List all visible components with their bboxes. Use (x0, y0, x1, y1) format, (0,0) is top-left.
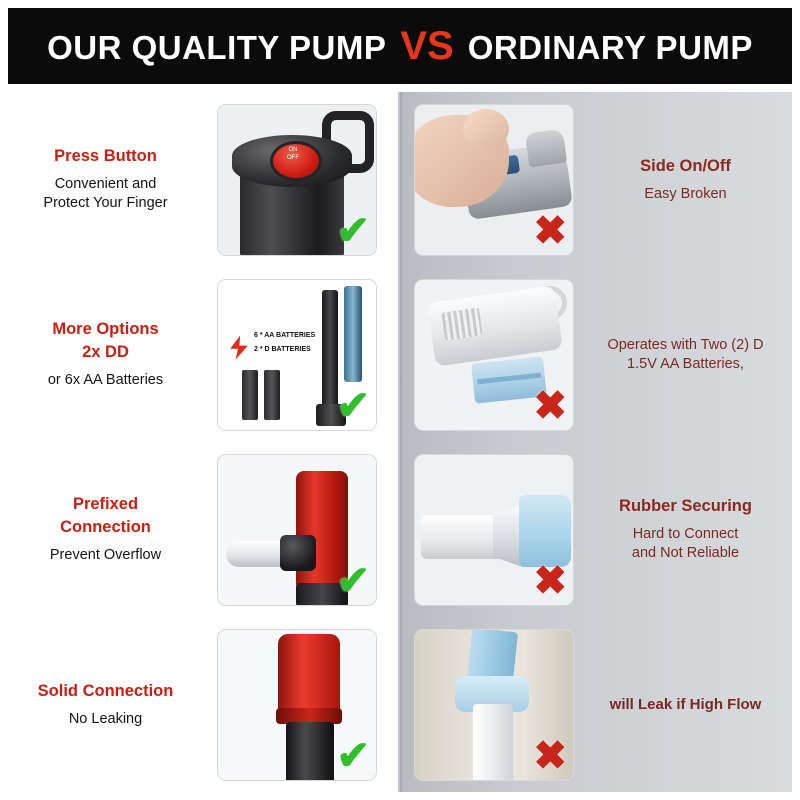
row2-left-title-line2: 2x DD (14, 342, 197, 362)
blue-rubber-sleeve (519, 495, 571, 567)
row1-left-cell: Press Button Convenient and Protect Your… (8, 92, 400, 267)
row4-right-cell: ✖ will Leak if High Flow (400, 617, 792, 792)
diagram-label-aa: 6 * AA BATTERIES (254, 332, 315, 339)
header-right-title: ORDINARY PUMP (468, 29, 753, 67)
header-inner: OUR QUALITY PUMP VS ORDINARY PUMP (47, 24, 753, 69)
row2-right-text: Operates with Two (2) D 1.5V AA Batterie… (588, 336, 783, 374)
battery-2 (264, 370, 280, 420)
row4-left-cell: Solid Connection No Leaking ✔ (8, 617, 400, 792)
row3-right-image: ✖ (414, 454, 574, 606)
cross-icon: ✖ (533, 211, 567, 251)
comparison-row: Press Button Convenient and Protect Your… (8, 92, 792, 267)
row1-right-subtitle: Easy Broken (594, 185, 777, 204)
row3-right-subtitle-line1: Hard to Connect (594, 525, 777, 544)
row1-left-title: Press Button (14, 146, 197, 166)
pump-grill (441, 307, 483, 340)
row3-right-cell: ✖ Rubber Securing Hard to Connect and No… (400, 442, 792, 617)
check-icon: ✔ (336, 561, 370, 601)
row3-left-image: ✔ (217, 454, 377, 606)
row2-right-cell: ✖ Operates with Two (2) D 1.5V AA Batter… (400, 267, 792, 442)
check-icon: ✔ (336, 736, 370, 776)
diagram-label-d: 2 * D BATTERIES (254, 346, 311, 353)
row4-left-title: Solid Connection (14, 681, 197, 701)
header-left-title: OUR QUALITY PUMP (47, 29, 386, 67)
comparison-row: Solid Connection No Leaking ✔ (8, 617, 792, 792)
comparison-row: Prefixed Connection Prevent Overflow ✔ (8, 442, 792, 617)
row4-left-image: ✔ (217, 629, 377, 781)
row1-left-subtitle-line1: Convenient and (14, 175, 197, 194)
comparison-body: Press Button Convenient and Protect Your… (8, 92, 792, 792)
check-icon: ✔ (336, 211, 370, 251)
row2-right-subtitle-line2: 1.5V AA Batteries, (594, 355, 777, 374)
black-tube-lower (286, 722, 334, 781)
row3-left-cell: Prefixed Connection Prevent Overflow ✔ (8, 442, 400, 617)
row2-left-text: More Options 2x DD or 6x AA Batteries (8, 319, 203, 390)
row4-left-subtitle: No Leaking (14, 710, 197, 729)
battery-1 (242, 370, 258, 420)
row1-left-image: ON OFF ✔ (217, 104, 377, 256)
row1-left-text: Press Button Convenient and Protect Your… (8, 146, 203, 213)
button-off-label: OFF (273, 155, 313, 163)
comparison-infographic: OUR QUALITY PUMP VS ORDINARY PUMP Press … (0, 0, 800, 800)
row2-right-image: ✖ (414, 279, 574, 431)
row1-right-cell: ✖ Side On/Off Easy Broken (400, 92, 792, 267)
row3-left-subtitle: Prevent Overflow (14, 546, 197, 565)
row1-left-subtitle-line2: Protect Your Finger (14, 194, 197, 213)
row1-right-text: Side On/Off Easy Broken (588, 156, 783, 204)
comparison-row: More Options 2x DD or 6x AA Batteries 6 … (8, 267, 792, 442)
row2-left-subtitle: or 6x AA Batteries (14, 371, 197, 390)
cross-icon: ✖ (533, 736, 567, 776)
row3-right-title: Rubber Securing (594, 496, 777, 516)
grey-pump-spout (525, 128, 567, 167)
row2-right-subtitle-line1: Operates with Two (2) D (594, 336, 777, 355)
white-tube (473, 704, 513, 781)
row1-right-image: ✖ (414, 104, 574, 256)
button-on-label: ON (273, 147, 313, 155)
row4-right-image: ✖ (414, 629, 574, 781)
header-banner: OUR QUALITY PUMP VS ORDINARY PUMP (8, 8, 792, 84)
cross-icon: ✖ (533, 386, 567, 426)
header-vs-label: VS (386, 24, 467, 69)
row1-right-title: Side On/Off (594, 156, 777, 176)
row3-right-subtitle-line2: and Not Reliable (594, 544, 777, 563)
row2-left-title-line1: More Options (14, 319, 197, 339)
row2-left-cell: More Options 2x DD or 6x AA Batteries 6 … (8, 267, 400, 442)
row4-right-text: will Leak if High Flow (588, 695, 783, 715)
cross-icon: ✖ (533, 561, 567, 601)
pump-tube-blue (344, 286, 362, 382)
check-icon: ✔ (336, 386, 370, 426)
row4-right-subtitle: will Leak if High Flow (594, 695, 777, 715)
row3-left-title-line1: Prefixed (14, 494, 197, 514)
prefixed-connector (280, 535, 316, 571)
row2-left-image: 6 * AA BATTERIES 2 * D BATTERIES ✔ (217, 279, 377, 431)
row3-right-text: Rubber Securing Hard to Connect and Not … (588, 496, 783, 563)
thumb (463, 109, 509, 149)
row3-left-text: Prefixed Connection Prevent Overflow (8, 494, 203, 565)
row4-left-text: Solid Connection No Leaking (8, 681, 203, 729)
red-tube-upper (278, 634, 340, 712)
row3-left-title-line2: Connection (14, 517, 197, 537)
